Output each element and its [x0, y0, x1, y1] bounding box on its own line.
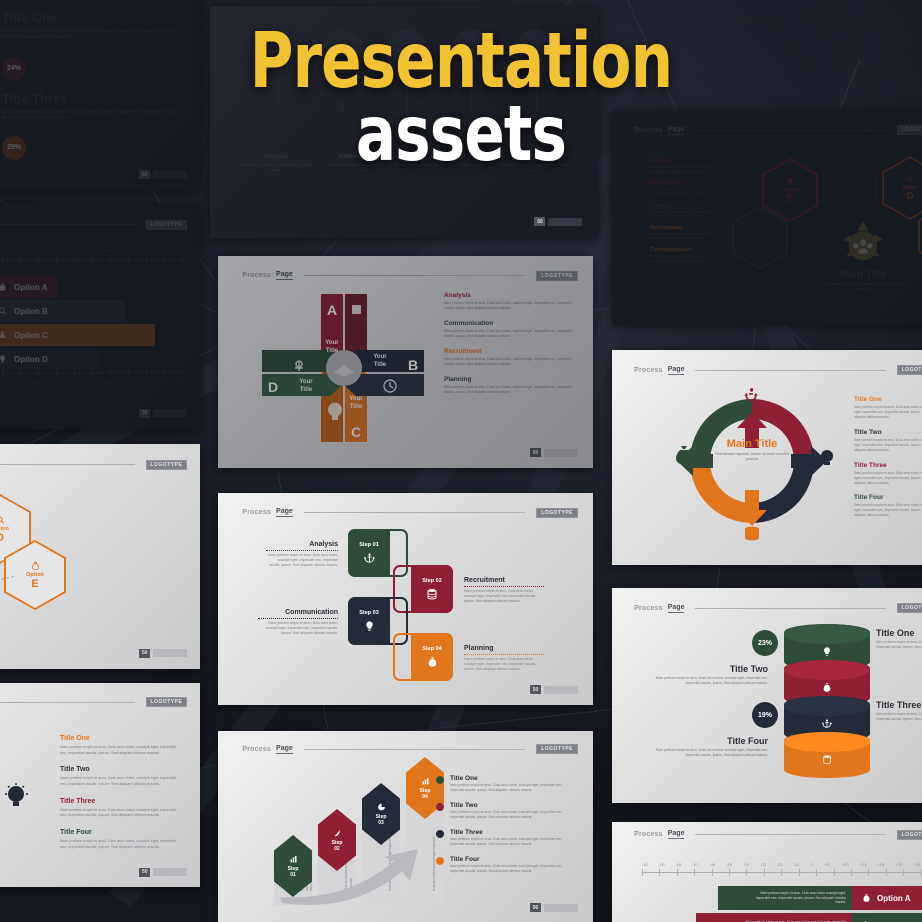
- svg-text:B: B: [408, 357, 418, 373]
- ghost-step: Step 04: [450, 30, 494, 112]
- logotype-badge: LOGOTYPE: [536, 744, 578, 754]
- item-title: Title One: [60, 735, 178, 742]
- axis-tick-label: -05: [726, 862, 732, 867]
- ghost-step: Step 01: [256, 30, 300, 112]
- bar-label: Option D: [14, 355, 48, 364]
- cylinder-labels: Title OneNam pretium turpis et arcu. Dui…: [612, 624, 922, 774]
- step-card-01[interactable]: Step 01: [348, 529, 390, 577]
- axis-tick: [746, 869, 747, 876]
- logotype-badge: LOGOTYPE: [146, 460, 188, 470]
- ghost-step: Step 02: [321, 30, 365, 112]
- axis-tick-label: +06: [104, 248, 111, 253]
- page-number-badge: 50: [139, 649, 187, 658]
- svg-text:A: A: [327, 302, 337, 318]
- header-word-page: Page: [276, 745, 293, 754]
- axis-tick-label: +02: [33, 379, 40, 384]
- bar-label: Option A: [877, 894, 910, 903]
- axis-tick: [38, 256, 39, 263]
- blurb-title: Communication: [444, 320, 575, 327]
- page-number-badge: 50: [534, 217, 582, 226]
- axis-tick: [886, 869, 887, 876]
- svg-text:C: C: [351, 424, 361, 440]
- topic-title: Communication: [650, 247, 716, 253]
- header-word-page: Page: [668, 830, 685, 839]
- blurb-title: Recruitment: [444, 348, 575, 355]
- step-label-recruitment: Recruitment Nam pretium turpis et arcu. …: [464, 577, 544, 605]
- axis-tick: [834, 869, 835, 876]
- axis-tick-label: +04: [69, 379, 76, 384]
- logotype-badge: LOGOTYPE: [536, 508, 578, 518]
- axis-tick-label: -09: [659, 862, 665, 867]
- axis-tick: [712, 869, 713, 876]
- header-word-process: Process: [242, 746, 271, 753]
- legend-title: Title Two: [450, 802, 577, 809]
- hexagon-label: Option: [0, 526, 9, 532]
- axis-tick: [816, 869, 817, 876]
- legend-title: Title One: [854, 396, 922, 403]
- item-body: Nam pretium turpis et arcu. Duis arcu to…: [60, 838, 178, 849]
- header-word-process: Process: [242, 509, 271, 516]
- header-word-page: Page: [276, 271, 293, 280]
- legend-title: Title Two: [854, 429, 922, 436]
- slide-center-title[interactable]: Step 01Step 02Step 03Step 04Step 05 Anal…: [210, 6, 598, 238]
- axis-tick-label: -02: [777, 862, 783, 867]
- axis-tick: [74, 256, 75, 263]
- axis-tick-label: -08: [676, 862, 682, 867]
- axis-tick: [677, 869, 678, 876]
- stair-step-label: Step04: [420, 789, 431, 801]
- lab-flask-icon: [0, 330, 7, 340]
- slide-center-pinwheel[interactable]: Process Page LOGOTYPE: [218, 256, 593, 468]
- blurb-item: RecruitmentNam pretium turpis et arcu. D…: [444, 348, 575, 367]
- legend-body: Nam pretium turpis et arcu. Duis arcu to…: [450, 783, 577, 793]
- topic-body: Nam pretium turpis et arcu. Duis arcu to…: [650, 165, 716, 174]
- legend-list: Title OneNam pretium turpis et arcu. Dui…: [436, 775, 577, 884]
- legend-item: Title OneNam pretium turpis et arcu. Dui…: [854, 396, 922, 420]
- logotype-badge: LOGOTYPE: [146, 697, 188, 707]
- axis-tick: [729, 869, 730, 876]
- percent-badge: 19%: [752, 702, 778, 728]
- cylinder-label: Title ThreeNam pretium turpis et arcu. D…: [876, 700, 922, 722]
- topic-list: StrategyNam pretium turpis et arcu. Duis…: [650, 158, 716, 269]
- logotype-badge: LOGOTYPE: [897, 603, 922, 613]
- layer-title: Title One: [876, 628, 922, 638]
- hexagon-label: Option: [752, 235, 768, 241]
- svg-text:Title: Title: [300, 387, 313, 393]
- header-word-page: Page: [668, 604, 685, 613]
- search-icon: [0, 515, 5, 525]
- axis-tick: [146, 256, 147, 263]
- bulb-icon: [0, 783, 28, 809]
- slide-header: Process Page LOGOTYPE: [242, 508, 578, 518]
- slide-body: Nam pretium turpis et arcu. Duis arcu to…: [2, 109, 187, 122]
- page-number-badge: 50: [139, 409, 187, 418]
- axis-tick: [2, 369, 3, 376]
- svg-text:D: D: [268, 379, 278, 395]
- pinwheel-diagram: A C D B Your Title Your Title Your Title…: [258, 288, 428, 448]
- axis-tick-label: -03: [760, 862, 766, 867]
- page-number-badge: 50: [530, 448, 578, 457]
- topic-title: Strategy: [650, 158, 716, 164]
- axis-tick-label: +03: [51, 248, 58, 253]
- axis-tick: [20, 369, 21, 376]
- database-icon: [822, 754, 832, 765]
- topic-body: Nam pretium turpis et arcu. Duis arcu to…: [650, 210, 716, 219]
- slide-left-timeline-dark[interactable]: Process Page LOGOTYPE 0+01+02+03+04+05+0…: [0, 204, 200, 429]
- anchor-icon: [364, 552, 375, 564]
- axis-tick: [781, 869, 782, 876]
- axis-tick: [56, 256, 57, 263]
- bar-chart-icon: [421, 776, 430, 786]
- ghost-step-row: Step 01Step 02Step 03Step 04Step 05: [256, 30, 558, 112]
- slide-center-steps[interactable]: Process Page LOGOTYPE Step 01 Step 02: [218, 493, 593, 705]
- axis-tick: [182, 369, 183, 376]
- blurb-title: Analysis: [444, 292, 575, 299]
- svg-text:Your: Your: [325, 340, 339, 346]
- bar-row[interactable]: Option C: [0, 324, 155, 346]
- bar-row[interactable]: Nam pretium turpis et arcu. Duis arcu to…: [696, 913, 922, 922]
- slide-body: Nam pretium turpis et arcu. Duis arcu to…: [2, 28, 187, 41]
- layer-body: Nam pretium turpis et arcu. Duis arcu to…: [876, 640, 922, 650]
- header-rule: [695, 834, 885, 835]
- svg-text:Title: Title: [326, 348, 339, 354]
- topic-body: Nam pretium turpis et arcu. Duis arcu to…: [650, 254, 716, 263]
- main-subtitle: Pellentesque egestas, neque sit amet con…: [808, 282, 918, 293]
- hexagon-label: Option: [842, 183, 858, 189]
- axis-tick: [164, 369, 165, 376]
- timeline-axis-top: 0+01+02+03+04+05+06+07+08+09+10: [2, 248, 182, 260]
- svg-text:Your: Your: [299, 379, 313, 385]
- team-gear-icon: [838, 220, 888, 264]
- legend-body: Nam pretium turpis et arcu. Duis arcu to…: [854, 405, 922, 420]
- header-rule: [0, 464, 135, 465]
- slide-right-hexmap[interactable]: Process Page LOGOTYPE StrategyNam pretiu…: [612, 110, 922, 325]
- hexagon-option-c[interactable]: OptionC: [822, 154, 878, 218]
- slide-right-cylinders[interactable]: Process Page LOGOTYPE Title OneNam preti…: [612, 588, 922, 803]
- title-item: Title TwoNam pretium turpis et arcu. Dui…: [60, 766, 178, 786]
- step-card-04[interactable]: Step 04: [411, 633, 453, 681]
- bar-label: Option A: [14, 283, 47, 292]
- anchor-icon: [756, 225, 764, 234]
- bar-row[interactable]: Option D: [0, 348, 100, 370]
- svg-text:Your: Your: [373, 354, 387, 360]
- axis-tick: [164, 256, 165, 263]
- database-icon: [426, 588, 438, 600]
- connector-dots: [0, 554, 82, 599]
- legend-body: Nam pretium turpis et arcu. Duis arcu to…: [450, 837, 577, 847]
- header-rule: [695, 608, 885, 609]
- blurb-body: Nam pretium turpis et arcu. Duis arcu to…: [444, 329, 575, 339]
- axis-tick-label: +07: [122, 379, 129, 384]
- axis-tick-label: +10: [175, 248, 182, 253]
- blurb-title: Planning: [444, 376, 575, 383]
- main-subtitle: Pellentesque egestas, neque sit amet con…: [704, 452, 800, 462]
- stair-hexagon[interactable]: Step03: [362, 783, 400, 845]
- legend-title: Title Three: [450, 829, 577, 836]
- blurb-body: Nam pretium turpis et arcu. Duis arcu to…: [444, 301, 575, 311]
- timeline-bars: Option A Option B Option C Opti: [0, 276, 200, 370]
- slide-header: Process Page LOGOTYPE: [634, 365, 922, 375]
- axis-tick: [182, 256, 183, 263]
- header-rule: [304, 749, 525, 750]
- money-bag-icon: [427, 656, 438, 668]
- axis-tick: [20, 256, 21, 263]
- header-rule: [304, 512, 525, 513]
- ghost-title: CommunicationPellentesque egestas, neque…: [323, 154, 402, 173]
- legend-title: Title Four: [854, 494, 922, 501]
- rocket-icon: [333, 828, 342, 838]
- title-item: Title OneNam pretium turpis et arcu. Dui…: [60, 735, 178, 755]
- axis-tick: [92, 256, 93, 263]
- hexagon-option-d[interactable]: OptionD: [882, 156, 922, 220]
- slide-header: Process Page LOGOTYPE: [0, 220, 187, 230]
- axis-tick-label: +08: [140, 248, 147, 253]
- cylinder-label: Title TwoNam pretium turpis et arcu. Dui…: [648, 664, 768, 686]
- topic-body: Nam pretium turpis et arcu. Duis arcu to…: [650, 187, 716, 196]
- header-rule: [695, 370, 885, 371]
- bar-row[interactable]: Option A: [0, 276, 58, 298]
- legend-item: Title OneNam pretium turpis et arcu. Dui…: [436, 775, 577, 793]
- axis-tick-label: +09: [157, 248, 164, 253]
- bulb-icon: [786, 177, 794, 186]
- axis-tick: [110, 256, 111, 263]
- axis-tick-label: 0: [811, 862, 813, 867]
- blurb-item: CommunicationNam pretium turpis et arcu.…: [444, 320, 575, 339]
- axis-tick-label: -10: [642, 862, 648, 867]
- axis-tick: [659, 869, 660, 876]
- legend-dot: [436, 803, 444, 811]
- topic-title: Planning: [650, 203, 716, 209]
- hexagon-letter: D: [906, 192, 913, 202]
- svg-text:Title: Title: [350, 404, 363, 410]
- page-number-badge: 50: [530, 685, 578, 694]
- main-subtitle: Pellentesque egestas, neque sit amet con…: [0, 668, 2, 669]
- topic-title: Management: [650, 180, 716, 186]
- slide-left-cylinders-dark[interactable]: Title One Nam pretium turpis et arcu. Du…: [0, 0, 200, 189]
- topic-item: ManagementNam pretium turpis et arcu. Du…: [650, 180, 716, 196]
- ghost-title: AnalysisPellentesque egestas, neque sit …: [236, 154, 315, 173]
- legend-title: Title Four: [450, 856, 577, 863]
- topic-item: RecruitmentNam pretium turpis et arcu. D…: [650, 225, 716, 241]
- step-label: Step 04: [422, 646, 442, 652]
- slide-right-circle[interactable]: Process Page LOGOTYPE: [612, 350, 922, 565]
- legend-item: Title TwoNam pretium turpis et arcu. Dui…: [436, 802, 577, 820]
- header-word-page: Page: [668, 366, 685, 375]
- main-title-block: Main Title Pellentesque egestas, neque s…: [0, 596, 2, 669]
- svg-text:Your: Your: [349, 396, 363, 402]
- step-card-02[interactable]: Step 02: [411, 565, 453, 613]
- item-body: Nam pretium turpis et arcu. Duis arcu to…: [60, 807, 178, 818]
- slide-right-timeline[interactable]: Process Page LOGOTYPE -10-09-08-07-06-05…: [612, 822, 922, 922]
- hexagon-letter: A: [756, 242, 763, 252]
- topic-item: StrategyNam pretium turpis et arcu. Duis…: [650, 158, 716, 174]
- slide-title: Title Three: [2, 91, 187, 106]
- money-bag-icon: [822, 682, 832, 693]
- main-title: Main Title: [704, 438, 800, 450]
- ghost-step: Step 05: [514, 30, 558, 112]
- axis-tick: [74, 369, 75, 376]
- anchor-icon: [822, 718, 832, 729]
- slide-header: Process Page LOGOTYPE: [242, 744, 578, 754]
- axis-tick-label: +10: [175, 379, 182, 384]
- header-word-process: Process: [634, 127, 663, 134]
- hexagon-option-e[interactable]: OptionE: [918, 204, 922, 268]
- axis-tick-label: +01: [15, 379, 22, 384]
- slide-header: Process Page LOGOTYPE: [242, 271, 578, 281]
- axis-tick-label: +04: [878, 862, 885, 867]
- legend-body: Nam pretium turpis et arcu. Duis arcu to…: [854, 438, 922, 453]
- main-title: Main Title: [808, 269, 918, 280]
- main-title-block: Main Title Pellentesque egestas, neque s…: [808, 220, 918, 293]
- slide-left-hexagons[interactable]: Process Page LOGOTYPE Option C: [0, 444, 200, 669]
- axis-tick-label: -01: [794, 862, 800, 867]
- ghost-step: Step 03: [385, 30, 429, 112]
- hexagon-label: Option: [782, 187, 798, 193]
- layer-title: Title Two: [648, 664, 768, 674]
- step-card-03[interactable]: Step 03: [348, 597, 390, 645]
- slide-title: Title One: [2, 10, 187, 25]
- pie-chart-icon: [377, 802, 386, 812]
- timeline-bars: Nam pretium turpis et arcu. Duis arcu to…: [718, 886, 922, 922]
- money-bag-icon: [0, 282, 7, 292]
- blurb-body: Nam pretium turpis et arcu. Duis arcu to…: [444, 385, 575, 395]
- layer-title: Title Four: [648, 736, 768, 746]
- legend-title: Title One: [450, 775, 577, 782]
- axis-tick-label: 0: [2, 379, 4, 384]
- axis-tick-label: +03: [51, 379, 58, 384]
- header-word-page: Page: [276, 508, 293, 517]
- axis-tick-label: -04: [743, 862, 749, 867]
- slide-left-titles[interactable]: Process Page LOGOTYPE Title OneNam preti…: [0, 683, 200, 887]
- cylinder-label: Title OneNam pretium turpis et arcu. Dui…: [876, 628, 922, 650]
- percent-badge: 24%: [2, 57, 26, 81]
- item-body: Nam pretium turpis et arcu. Duis arcu to…: [60, 744, 178, 755]
- axis-tick-label: 0: [2, 248, 4, 253]
- axis-tick: [921, 869, 922, 876]
- axis-tick-label: +09: [157, 379, 164, 384]
- hexagon-option-b[interactable]: OptionB: [762, 158, 818, 222]
- page-number-badge: 50: [530, 903, 578, 912]
- stair-step-label: Step03: [376, 815, 387, 827]
- axis-tick: [56, 369, 57, 376]
- page-number-badge: 50: [139, 170, 187, 179]
- ghost-title-row: AnalysisPellentesque egestas, neque sit …: [236, 154, 574, 173]
- hexagon-letter: C: [846, 190, 853, 200]
- item-title: Title Four: [60, 829, 178, 836]
- legend-item: Title ThreeNam pretium turpis et arcu. D…: [854, 462, 922, 486]
- legend-dot: [436, 776, 444, 784]
- bar-label: Option B: [14, 307, 48, 316]
- bar-row[interactable]: Nam pretium turpis et arcu. Duis arcu to…: [718, 886, 922, 910]
- bulb-icon: [0, 354, 7, 364]
- legend-title: Title Three: [854, 462, 922, 469]
- header-word-page: Page: [668, 126, 685, 135]
- main-title: Main Title: [0, 654, 2, 666]
- bulb-icon: [364, 620, 375, 632]
- axis-tick: [868, 869, 869, 876]
- axis-tick-label: -07: [693, 862, 699, 867]
- header-word-process: Process: [634, 367, 663, 374]
- layer-body: Nam pretium turpis et arcu. Duis arcu to…: [648, 676, 768, 686]
- item-body: Nam pretium turpis et arcu. Duis arcu to…: [60, 775, 178, 786]
- blurb-body: Nam pretium turpis et arcu. Duis arcu to…: [444, 357, 575, 367]
- header-rule: [695, 130, 885, 131]
- header-word-process: Process: [634, 831, 663, 838]
- axis-tick: [110, 369, 111, 376]
- percent-badge: 23%: [752, 630, 778, 656]
- header-word-process: Process: [634, 605, 663, 612]
- layer-body: Nam pretium turpis et arcu. Duis arcu to…: [648, 748, 768, 758]
- bar-row[interactable]: Option B: [0, 300, 125, 322]
- blurb-item: PlanningNam pretium turpis et arcu. Duis…: [444, 376, 575, 395]
- step-label: Step 01: [359, 542, 379, 548]
- step-label-planning: Planning Nam pretium turpis et arcu. Dui…: [464, 645, 544, 673]
- slide-header: Process Page LOGOTYPE: [0, 697, 187, 707]
- logotype-badge: LOGOTYPE: [897, 365, 922, 375]
- title-item: Title ThreeNam pretium turpis et arcu. D…: [60, 798, 178, 818]
- legend-dot: [436, 857, 444, 865]
- header-rule: [304, 275, 525, 276]
- topic-item: CommunicationNam pretium turpis et arcu.…: [650, 247, 716, 263]
- blurb-list: AnalysisNam pretium turpis et arcu. Duis…: [444, 292, 575, 405]
- slide-center-stairs[interactable]: Process Page LOGOTYPE Duis arcu tortor s…: [218, 731, 593, 922]
- axis-tick-label: +05: [86, 248, 93, 253]
- legend-body: Nam pretium turpis et arcu. Duis arcu to…: [450, 864, 577, 874]
- axis-tick: [146, 369, 147, 376]
- cylinder-label: Title FourNam pretium turpis et arcu. Du…: [648, 736, 768, 758]
- poster-stage: Title One Nam pretium turpis et arcu. Du…: [0, 0, 922, 922]
- axis-tick: [764, 869, 765, 876]
- header-rule: [0, 224, 135, 225]
- bulb-icon: [822, 646, 832, 657]
- lab-flask-icon: [846, 173, 854, 182]
- axis-tick: [903, 869, 904, 876]
- svg-text:Title: Title: [374, 362, 387, 368]
- timeline-axis-bottom: 0+01+02+03+04+05+06+07+08+09+10: [2, 372, 182, 384]
- axis-tick-label: +02: [33, 248, 40, 253]
- axis-tick: [2, 256, 3, 263]
- legend-item: Title FourNam pretium turpis et arcu. Du…: [436, 856, 577, 874]
- axis-tick: [642, 869, 643, 876]
- axis-tick-label: +01: [824, 862, 831, 867]
- axis-tick: [92, 369, 93, 376]
- slide-header: Process Page LOGOTYPE: [0, 460, 187, 470]
- hexagon-label: Option: [902, 185, 918, 191]
- layer-body: Nam pretium turpis et arcu. Duis arcu to…: [876, 712, 922, 722]
- legend-item: Title ThreeNam pretium turpis et arcu. D…: [436, 829, 577, 847]
- ghost-title: PlanningPellentesque egestas, neque sit …: [496, 154, 575, 173]
- axis-tick: [38, 369, 39, 376]
- slide-header: Process Page LOGOTYPE: [634, 830, 922, 840]
- slide-header: Process Page LOGOTYPE: [634, 603, 922, 613]
- title-list: Title OneNam pretium turpis et arcu. Dui…: [60, 735, 178, 860]
- step-label: Step 02: [422, 578, 442, 584]
- search-icon: [0, 306, 7, 316]
- axis-tick-label: +06: [913, 862, 920, 867]
- step-label-communication: Communication Nam pretium turpis et arcu…: [258, 609, 338, 637]
- logotype-badge: LOGOTYPE: [536, 271, 578, 281]
- topic-body: Nam pretium turpis et arcu. Duis arcu to…: [650, 232, 716, 241]
- logotype-badge: LOGOTYPE: [897, 125, 922, 135]
- ghost-title: RecruitmentPellentesque egestas, neque s…: [409, 154, 488, 173]
- axis-tick: [694, 869, 695, 876]
- step-label: Step 03: [359, 610, 379, 616]
- axis-tick-label: +07: [122, 248, 129, 253]
- topic-title: Recruitment: [650, 225, 716, 231]
- legend-list: Title OneNam pretium turpis et arcu. Dui…: [854, 396, 922, 527]
- hexagon-letter: B: [786, 194, 793, 204]
- topic-item: PlanningNam pretium turpis et arcu. Duis…: [650, 203, 716, 219]
